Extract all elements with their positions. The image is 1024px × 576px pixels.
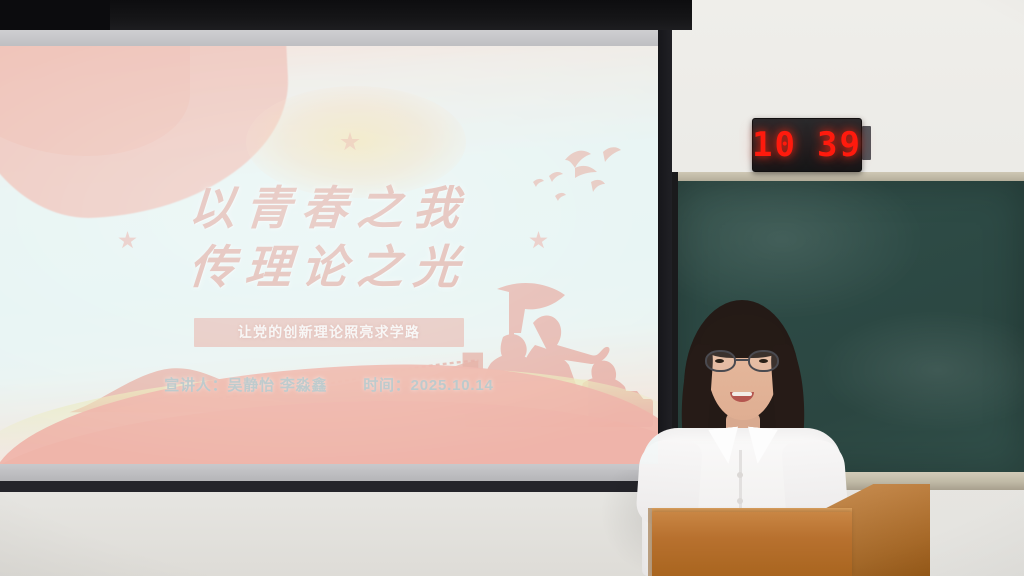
projection-screen: 以青春之我 传理论之光 让党的创新理论照亮求学路 宣讲人：吴静怡 李淼鑫 时间：… <box>0 30 672 482</box>
clock-minutes: 39 <box>817 128 862 162</box>
slide-title-line-1: 以青春之我 <box>0 180 658 239</box>
slide-meta-row: 宣讲人：吴静怡 李淼鑫 时间：2025.10.14 <box>0 374 658 395</box>
digital-clock: 10 39 <box>752 118 862 172</box>
slide-title-line-2: 传理论之光 <box>0 239 658 298</box>
slide-subtitle-wrap: 让党的创新理论照亮求学路 <box>0 318 658 347</box>
screen-top-bar <box>0 30 672 46</box>
chalkboard-top-rail <box>678 172 1024 181</box>
slide-subtitle: 让党的创新理论照亮求学路 <box>194 318 464 347</box>
slide-date: 时间：2025.10.14 <box>363 377 493 394</box>
screen-bottom-rail <box>0 481 672 492</box>
wooden-podium <box>652 512 852 576</box>
slide-title: 以青春之我 传理论之光 <box>0 180 658 298</box>
eyeglasses-icon <box>704 350 782 372</box>
shirt-button <box>737 498 743 504</box>
projected-slide: 以青春之我 传理论之光 让党的创新理论照亮求学路 宣讲人：吴静怡 李淼鑫 时间：… <box>0 46 658 464</box>
wall-below-screen <box>0 494 670 576</box>
slide-presenter: 宣讲人：吴静怡 李淼鑫 <box>164 377 327 394</box>
teeth <box>732 392 752 396</box>
screen-bottom-bar <box>0 464 672 482</box>
shirt-button <box>737 472 743 478</box>
classroom-photo-scene: 以青春之我 传理论之光 让党的创新理论照亮求学路 宣讲人：吴静怡 李淼鑫 时间：… <box>0 0 1024 576</box>
sun-center-star-icon <box>340 132 360 152</box>
clock-mounting-bracket <box>862 126 871 160</box>
clock-hours: 10 <box>752 128 797 162</box>
